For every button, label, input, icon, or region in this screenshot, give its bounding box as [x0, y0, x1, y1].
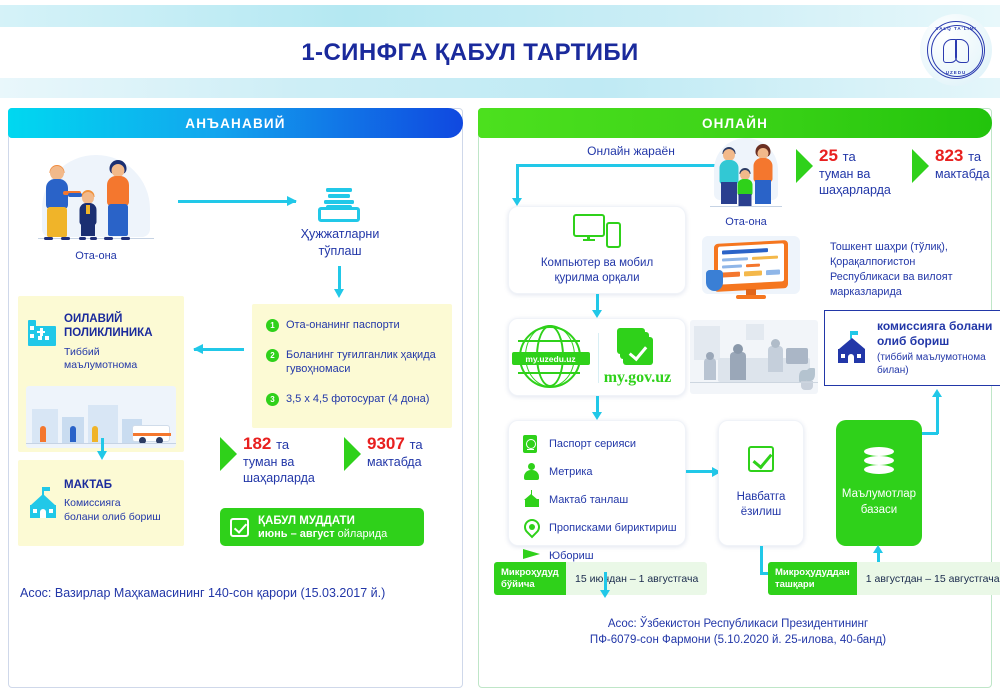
stat-schools-traditional: 9307 та мактабда [344, 434, 423, 471]
commission-note-line2: билан) [877, 365, 992, 378]
period-row-outside: Микроҳудуддан ташқари 1 августдан – 15 а… [768, 562, 1000, 595]
step-send-label: Юбориш [549, 550, 594, 562]
school-window-right [49, 509, 53, 513]
region-note-line1: Тошкент шаҳри (тўлиқ), [830, 240, 1000, 255]
school-icon [835, 333, 867, 363]
paper-1 [326, 188, 352, 192]
database-box-line1: Маълумотлар [842, 487, 916, 503]
stat-schools-value: 9307 [367, 434, 405, 453]
paper-2 [328, 194, 350, 198]
parents-illustration [30, 153, 162, 248]
commission-line2: олиб бориш [877, 334, 992, 350]
monitor-icon [573, 214, 605, 237]
step-school-select[interactable]: Мактаб танлаш [523, 491, 677, 509]
admission-term-period: июнь – август ойларида [258, 528, 387, 540]
logo-text-top: XALQ TA'LIMI [928, 26, 984, 31]
paper-3 [324, 200, 354, 204]
connector-commission-down [936, 396, 939, 434]
clinic-title-line1: ОИЛАВИЙ [64, 312, 176, 326]
period-value-outside: 1 августдан – 15 августгача [857, 562, 1000, 595]
commission-school-window-right [857, 354, 861, 358]
online-panel: ОНЛАЙН Онлайн жараён Компьютер ва мобил … [478, 108, 992, 688]
header-band-bottom [0, 78, 1000, 98]
online-footer-note: Асос: Ўзбекистон Республикаси Президенти… [498, 616, 978, 648]
documents-list-panel: 1 Ота-онанинг паспорти 2 Боланинг туғилг… [252, 304, 452, 428]
father-head [50, 166, 64, 180]
online-process-label: Онлайн жараён [566, 144, 696, 158]
stat-districts-online-text: 25 та туман ва шаҳарларда [819, 146, 891, 198]
school-window-left [33, 509, 37, 513]
meeting-head-child [706, 352, 714, 360]
meeting-ground [690, 382, 818, 383]
arrow-periods-down-head [600, 590, 610, 598]
screen-bar-2 [752, 256, 778, 260]
child-legs [81, 223, 95, 236]
document-text-1: Ота-онанинг паспорти [286, 318, 400, 332]
device-box[interactable]: Компьютер ва мобил қурилма орқали [508, 206, 686, 294]
online-mother-body [754, 158, 773, 182]
hospital-window-2 [45, 336, 49, 340]
clinic-text-block: ОИЛАВИЙ ПОЛИКЛИНИКА Тиббий маълумотнома [64, 312, 176, 373]
father-arm [68, 193, 82, 197]
step-metrika-label: Метрика [549, 466, 593, 478]
stat-schools-online-sub1: мактабда [935, 167, 990, 183]
mother-figure [102, 162, 134, 238]
period-tag-outside: Микроҳудуддан ташқари [768, 562, 857, 595]
book-emblem-icon [943, 39, 969, 61]
father-shoe-left [44, 237, 53, 240]
queue-box-line1: Навбатга [737, 490, 786, 505]
meeting-head-official [771, 339, 780, 348]
stat-districts-online-value: 25 [819, 146, 838, 165]
admission-term-box: ҚАБУЛ МУДДАТИ июнь – август ойларида [220, 508, 424, 546]
step-propiska-label: Прописками бириктириш [549, 522, 677, 534]
period-value-microdistrict: 15 июндан – 1 августгача [566, 562, 707, 595]
step-school-label: Мактаб танлаш [549, 494, 628, 506]
child-figure [76, 190, 100, 238]
computer-mobile-icon [573, 214, 621, 248]
arrow-docs-down [338, 266, 341, 290]
document-number-3: 3 [266, 393, 279, 406]
father-legs [47, 207, 67, 237]
stat-districts-text: 182 та туман ва шаҳарларда [243, 434, 315, 486]
documents-tray-icon [318, 188, 360, 222]
school-icon [523, 491, 540, 509]
traditional-panel: АНЪАНАВИЙ [8, 108, 463, 688]
commission-line1: комиссияга болани [877, 319, 992, 335]
uzedu-logo: XALQ TA'LIMI UZEDU [920, 14, 992, 86]
stat-districts-value: 182 [243, 434, 271, 453]
clinic-subtitle-line1: Тиббий [64, 346, 176, 360]
online-parents-caption: Ота-она [694, 216, 798, 228]
stat-schools-online-text: 823 та мактабда [935, 146, 990, 183]
stat-schools-online-value-wrap: 823 та [935, 146, 990, 166]
queue-box-text: Навбатга ёзилиш [737, 490, 786, 520]
step-propiska[interactable]: Прописками бириктириш [523, 519, 677, 537]
database-disc-2 [864, 456, 894, 465]
hospital-icon [28, 320, 56, 346]
region-note-line3: Республикаси ва вилоят [830, 270, 1000, 285]
clinic-person-3 [92, 426, 98, 442]
clinic-subtitle-line2: маълумотнома [64, 359, 176, 373]
traditional-panel-header: АНЪАНАВИЙ [8, 108, 463, 138]
arrow-docs-to-clinic [194, 348, 244, 351]
birth-certificate-icon [523, 463, 540, 481]
child-shoe-right [90, 237, 97, 240]
meeting-plant [798, 368, 816, 390]
header-band-top [0, 5, 1000, 27]
mother-shoe-left [104, 237, 113, 240]
screen-btn-2 [744, 270, 762, 276]
period-tag-microdistrict: Микроҳудуд бўйича [494, 562, 566, 595]
document-item-2: 2 Боланинг туғилганлик ҳақида гувоҳномас… [266, 348, 442, 376]
database-disc-3 [864, 465, 894, 474]
hospital-window-3 [30, 326, 34, 330]
meeting-person-child [704, 358, 716, 380]
tray-body [318, 207, 360, 222]
meeting-person-official [768, 346, 783, 372]
document-item-3: 3 3,5 х 4,5 фотосурат (4 дона) [266, 392, 442, 406]
page-title: 1-СИНФГА ҚАБУЛ ТАРТИБИ [0, 39, 940, 67]
uzedu-url-label: my.uzedu.uz [512, 352, 590, 365]
school-icon [28, 490, 58, 518]
arrow-commission-up-head [932, 389, 942, 397]
collect-documents-label: Ҳужжатларни тўплаш [273, 226, 407, 260]
online-child-legs [739, 194, 752, 206]
passport-icon [523, 435, 540, 453]
period-tag-outside-text: Микроҳудуддан ташқари [775, 567, 850, 590]
period-tag-outside-line1: Микроҳудуддан [775, 567, 850, 579]
chevron-icon [912, 149, 929, 183]
commission-school-roof [839, 338, 865, 349]
database-box-line2: базаси [842, 503, 916, 519]
school-subtitle-line2: болани олиб бориш [64, 511, 178, 525]
database-disc-1 [864, 447, 894, 456]
document-number-2: 2 [266, 349, 279, 362]
passport-glyph [523, 435, 537, 453]
stat-schools-online-value: 823 [935, 146, 963, 165]
period-tag-microdistrict-text: Микроҳудуд бўйича [501, 567, 559, 590]
clinic-title-line2: ПОЛИКЛИНИКА [64, 326, 176, 340]
arrow-process-down-head [512, 198, 522, 206]
mother-body [107, 176, 129, 206]
device-box-text: Компьютер ва мобил қурилма орқали [541, 256, 653, 286]
collect-docs-line1: Ҳужжатларни [273, 226, 407, 243]
stat-districts-traditional: 182 та туман ва шаҳарларда [220, 434, 315, 486]
period-tag-outside-line2: ташқари [775, 579, 850, 591]
mobile-phone-icon [606, 222, 621, 248]
portals-divider [598, 333, 599, 383]
meeting-wall-panel-2 [746, 324, 764, 340]
device-box-line1: Компьютер ва мобил [541, 256, 653, 271]
clinic-person-1 [40, 426, 46, 442]
stat-districts-online: 25 та туман ва шаҳарларда [796, 146, 891, 198]
step-metrika[interactable]: Метрика [523, 463, 677, 481]
stat-districts-online-unit: та [843, 149, 856, 164]
stat-schools-sub1: мактабда [367, 455, 423, 471]
child-tie [86, 205, 90, 214]
commission-school-window-left [841, 354, 845, 358]
database-box-text: Маълумотлар базаси [842, 487, 916, 518]
commission-box: комиссияга болани олиб бориш (тиббий маъ… [824, 310, 1000, 386]
security-shield-icon [706, 270, 723, 291]
commission-note-line1: (тиббий маълумотнома [877, 352, 992, 365]
stat-schools-unit: та [410, 437, 423, 452]
hospital-cross-horizontal [37, 331, 45, 334]
steps-box[interactable]: Паспорт серияси Метрика Мактаб танлаш Пр… [508, 420, 686, 546]
logo-ring: XALQ TA'LIMI UZEDU [927, 21, 985, 79]
admission-term-suffix: ойларида [335, 528, 388, 540]
ambulance-icon [132, 425, 170, 442]
document-check-icon [617, 328, 659, 366]
arrow-database-up-head [873, 545, 883, 553]
school-title: МАКТАБ [64, 478, 178, 492]
document-text-3: 3,5 х 4,5 фотосурат (4 дона) [286, 392, 429, 406]
steps-list: Паспорт серияси Метрика Мактаб танлаш Пр… [523, 435, 677, 565]
screen-bar-3 [722, 264, 742, 268]
location-pin-icon [523, 519, 540, 537]
meeting-monitor [786, 348, 808, 364]
chevron-icon [220, 437, 237, 471]
stat-districts-sub2: шаҳарларда [243, 471, 315, 487]
admission-term-title: ҚАБУЛ МУДДАТИ [258, 515, 387, 527]
pin-glyph [523, 519, 540, 537]
commission-text-block: комиссияга болани олиб бориш (тиббий маъ… [877, 319, 992, 378]
arrow-clinic-to-school [101, 438, 104, 452]
stat-schools-value-wrap: 9307 та [367, 434, 423, 454]
period-tag-microdistrict-line2: бўйича [501, 579, 559, 591]
father-shoe-right [61, 237, 70, 240]
globe-icon: my.uzedu.uz [519, 326, 581, 388]
checkmark-icon [748, 446, 774, 472]
online-child-figure [734, 168, 756, 206]
ambulance-stripe [133, 433, 171, 436]
pin-dot [529, 524, 535, 530]
screen-btn-3 [766, 269, 780, 275]
school-panel: МАКТАБ Комиссияга болани олиб бориш [18, 460, 184, 546]
screen-btn-1 [722, 272, 740, 278]
stat-districts-online-sub1: туман ва [819, 167, 891, 183]
plant-leaf-2 [806, 368, 815, 381]
online-footer-line1: Асос: Ўзбекистон Республикаси Президенти… [498, 616, 978, 632]
arrow-parents-to-docs [178, 200, 296, 203]
screen-bar-4 [746, 264, 760, 268]
stat-districts-online-sub2: шаҳарларда [819, 183, 891, 199]
admission-term-text: ҚАБУЛ МУДДАТИ июнь – август ойларида [258, 515, 387, 540]
father-figure [42, 166, 72, 238]
monitor-foot [736, 295, 766, 299]
hospital-body [32, 326, 56, 346]
region-note-line2: Қорақалпоғистон [830, 255, 1000, 270]
queue-box[interactable]: Навбатга ёзилиш [718, 420, 804, 546]
clinic-panel: ОИЛАВИЙ ПОЛИКЛИНИКА Тиббий маълумотнома [18, 296, 184, 452]
parents-caption: Ота-она [30, 250, 162, 262]
clinic-person-2 [70, 426, 76, 442]
birth-cert-glyph [523, 463, 540, 480]
logo-text-bottom: UZEDU [928, 70, 984, 75]
school-text-block: МАКТАБ Комиссияга болани олиб бориш [64, 478, 178, 525]
online-mother-legs [755, 180, 771, 204]
uzedu-portal[interactable]: my.uzedu.uz [514, 326, 586, 388]
hospital-window-1 [38, 336, 42, 340]
screen-bar-1 [722, 257, 748, 261]
send-glyph [523, 547, 541, 561]
birth-cert-head [528, 463, 535, 470]
step-passport[interactable]: Паспорт серияси [523, 435, 677, 453]
arrow-portals-down-head [592, 412, 602, 420]
chevron-icon [344, 437, 361, 471]
connector-commission-left [922, 432, 938, 435]
device-box-line2: қурилма орқали [541, 271, 653, 286]
stat-schools-online-unit: та [968, 149, 981, 164]
database-box[interactable]: Маълумотлар базаси [836, 420, 922, 546]
commission-school-door [848, 354, 854, 363]
document-item-1: 1 Ота-онанинг паспорти [266, 318, 442, 332]
connector-queue-down [760, 546, 763, 574]
birth-cert-body [524, 470, 539, 480]
checkbox-icon [230, 518, 249, 537]
admission-term-months: июнь – август [258, 528, 335, 540]
connector-process-down [516, 164, 519, 200]
document-text-2: Боланинг туғилганлик ҳақида гувоҳномаси [286, 348, 442, 376]
screen-bar-title [722, 248, 768, 254]
gov-portal[interactable]: my.gov.uz [595, 328, 681, 387]
child-shoe-left [79, 237, 86, 240]
step-passport-label: Паспорт серияси [549, 438, 636, 450]
online-parents-illustration [706, 138, 786, 214]
region-note-line4: марказларида [830, 285, 1000, 300]
stat-districts-online-value-wrap: 25 та [819, 146, 891, 166]
database-icon [864, 447, 894, 475]
collect-docs-line2: тўплаш [273, 243, 407, 260]
doc-checkmark [623, 337, 653, 365]
meeting-person-parent [730, 352, 746, 380]
stat-districts-unit: та [276, 437, 289, 452]
gov-url-label: my.gov.uz [604, 369, 672, 387]
stat-schools-text: 9307 та мактабда [367, 434, 423, 471]
hospital-window-4 [30, 334, 34, 338]
online-panel-header: ОНЛАЙН [478, 108, 992, 138]
stat-districts-value-wrap: 182 та [243, 434, 315, 454]
mother-legs [108, 204, 128, 236]
period-tag-microdistrict-line1: Микроҳудуд [501, 567, 559, 579]
stat-districts-sub1: туман ва [243, 455, 315, 471]
monitor-stand-base [583, 239, 595, 241]
arrow-device-down-head [592, 310, 602, 318]
school-door [40, 509, 46, 518]
chevron-icon [796, 149, 813, 183]
school-glyph [523, 491, 540, 508]
commission-meeting-illustration [690, 320, 818, 394]
school-roof [31, 494, 55, 505]
monitor-screen [718, 243, 784, 284]
document-number-1: 1 [266, 319, 279, 332]
page-header: 1-СИНФГА ҚАБУЛ ТАРТИБИ XALQ TA'LIMI UZED… [0, 0, 1000, 102]
meeting-head-parent [733, 344, 743, 354]
online-parents-ground [710, 206, 782, 207]
traditional-footer-note: Асос: Вазирлар Маҳкамасининг 140-сон қар… [20, 586, 450, 600]
school-glyph-base [525, 499, 539, 507]
queue-box-line2: ёзилиш [737, 505, 786, 520]
stat-schools-online: 823 та мактабда [912, 146, 990, 183]
online-footer-line2: ПФ-6079-сон Фармони (5.10.2020 й. 25-ило… [498, 632, 978, 648]
school-subtitle-line1: Комиссияга [64, 497, 178, 511]
portals-box[interactable]: my.uzedu.uz my.gov.uz [508, 318, 686, 396]
mother-shoe-right [121, 237, 130, 240]
region-coverage-note: Тошкент шаҳри (тўлиқ), Қорақалпоғистон Р… [830, 240, 1000, 300]
online-monitor-illustration [696, 236, 806, 308]
